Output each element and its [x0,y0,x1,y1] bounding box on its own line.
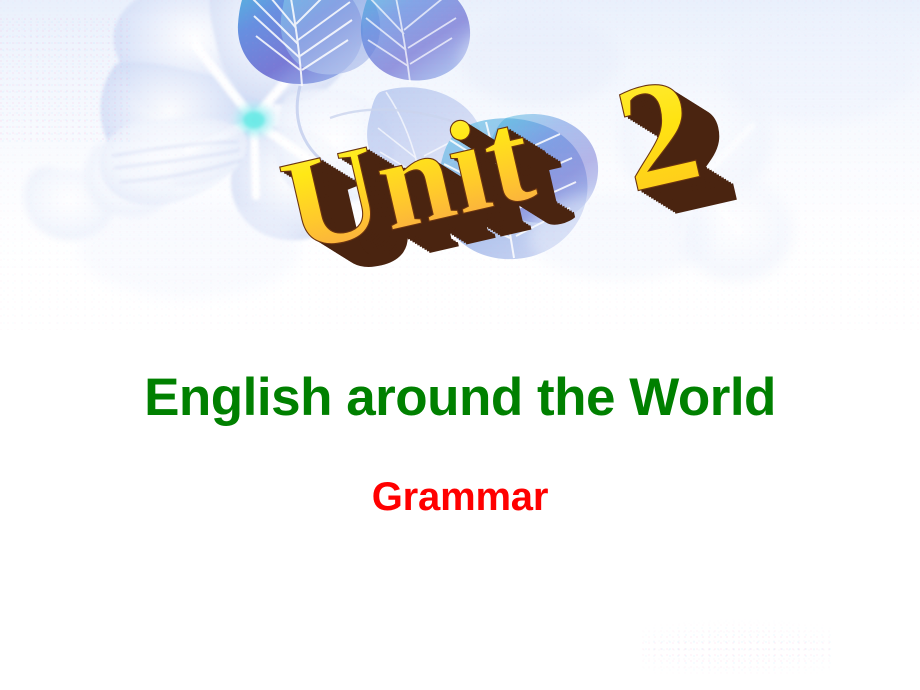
petal-folded-mid [100,118,249,205]
svg-text:Unit: Unit [285,91,561,290]
svg-text:Unit: Unit [287,92,563,291]
svg-text:Unit: Unit [304,103,580,302]
wordart-unit-face: Unit [269,81,545,280]
svg-text:2: 2 [608,47,720,228]
svg-text:2: 2 [632,62,744,243]
svg-text:2: 2 [634,64,746,245]
svg-text:Unit: Unit [290,94,566,293]
leaf-cluster-vivid-top [238,0,483,194]
svg-text:Unit: Unit [273,83,549,282]
svg-text:2: 2 [615,52,727,233]
svg-text:2: 2 [627,59,739,240]
leaf-large-center-right [330,110,598,260]
page-subtitle: Grammar [0,475,920,519]
svg-text:Unit: Unit [307,104,583,303]
flower-pale-right [619,69,792,279]
svg-text:Unit: Unit [292,95,568,294]
slide-canvas: Unit Unit Unit Unit Unit Unit Unit Unit … [0,0,920,690]
flower-rays-right [652,124,752,240]
dither-noise-top [0,0,920,330]
background-soft-blobs [80,14,916,298]
page-title: English around the World [0,369,920,427]
svg-text:Unit: Unit [275,85,551,284]
svg-text:Unit: Unit [283,89,559,288]
flower-pale-lower-left [24,138,175,240]
svg-text:2: 2 [612,50,724,231]
svg-text:Unit: Unit [278,86,554,285]
svg-text:Unit: Unit [280,88,556,287]
svg-text:2: 2 [610,49,722,230]
svg-text:Unit: Unit [297,98,573,297]
svg-text:Unit: Unit [299,100,575,299]
svg-text:2: 2 [605,46,717,227]
dither-noise-left-edge [0,18,130,143]
background-floral-artwork [0,0,920,690]
svg-text:2: 2 [617,53,729,234]
svg-text:2: 2 [622,56,734,237]
svg-text:Unit: Unit [302,101,578,300]
svg-text:2: 2 [620,55,732,236]
svg-text:2: 2 [629,61,741,242]
wordart-number-2: 2 2 2 2 2 2 2 2 2 2 2 2 2 2 2 2 [602,36,751,254]
wordart-2-face: 2 [602,43,714,224]
wordart-unit-2: Unit Unit Unit Unit Unit Unit Unit Unit … [0,0,920,690]
svg-text:Unit: Unit [295,97,571,296]
svg-text:2: 2 [639,67,751,248]
flower-large-left [101,0,395,240]
dither-noise-bottom-right [642,618,832,674]
svg-text:2: 2 [624,58,736,239]
wordart-word-unit: Unit Unit Unit Unit Unit Unit Unit Unit … [269,74,582,311]
svg-text:2: 2 [636,65,748,246]
